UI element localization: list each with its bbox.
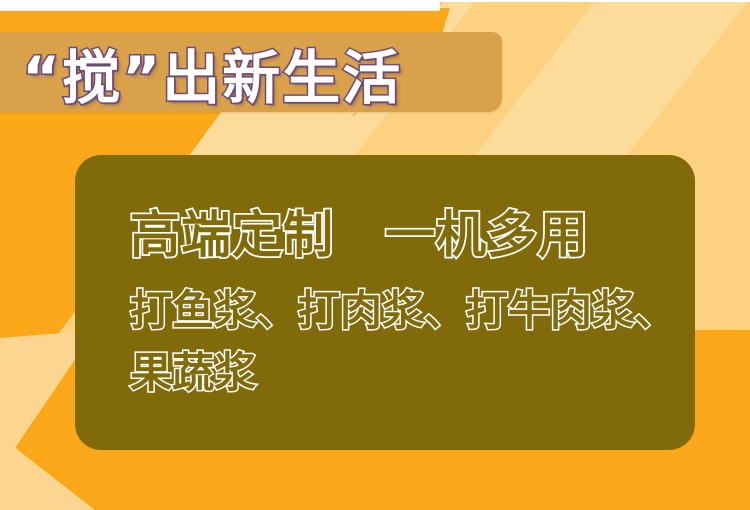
panel-body-line: 打鱼浆、打肉浆、打牛肉浆、 — [130, 280, 690, 342]
panel-body-line: 果蔬浆 — [130, 342, 690, 404]
promo-poster: “搅”出新生活 高端定制 一机多用 打鱼浆、打肉浆、打牛肉浆、 果蔬浆 — [0, 0, 750, 510]
feature-panel: 高端定制 一机多用 打鱼浆、打肉浆、打牛肉浆、 果蔬浆 — [75, 155, 695, 450]
panel-body: 打鱼浆、打肉浆、打牛肉浆、 果蔬浆 — [130, 280, 690, 404]
page-title: “搅”出新生活 — [22, 36, 492, 110]
panel-heading: 高端定制 一机多用 — [130, 195, 589, 267]
